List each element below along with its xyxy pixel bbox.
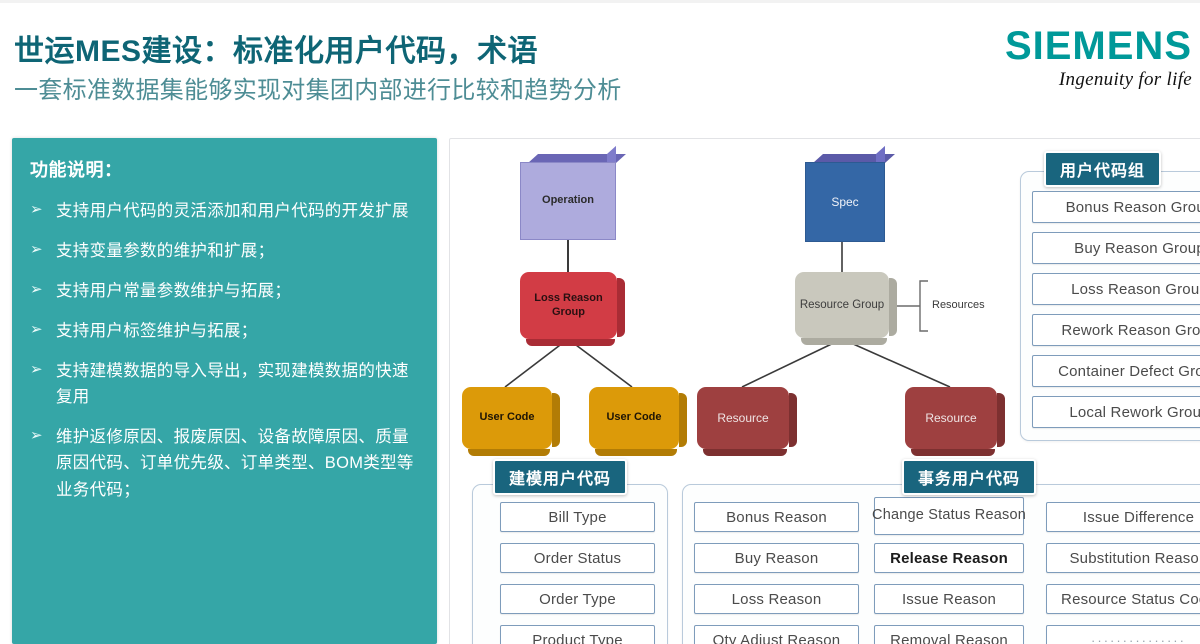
node-resource-2[interactable]: Resource xyxy=(905,387,997,449)
pill-product-type[interactable]: Product Type xyxy=(500,625,655,644)
chevron-right-icon: ➢ xyxy=(30,198,56,221)
feature-item: ➢ 支持用户常量参数维护与拓展； xyxy=(30,278,421,304)
diagram-panel: Operation Spec Loss Reason Group Resourc… xyxy=(449,138,1200,644)
pill-substitution-reason[interactable]: Substitution Reason xyxy=(1046,543,1200,573)
diagram-canvas: Operation Spec Loss Reason Group Resourc… xyxy=(450,139,1200,644)
card-modeling-user-code-title: 建模用户代码 xyxy=(493,459,627,495)
node-operation-label: Operation xyxy=(520,162,616,240)
chevron-right-icon: ➢ xyxy=(30,424,56,447)
node-depth-right xyxy=(789,393,797,447)
pill-release-reason[interactable]: Release Reason xyxy=(874,543,1024,573)
pill-change-status-reason[interactable]: Change Status Reason xyxy=(874,497,1024,535)
node-resource-1[interactable]: Resource xyxy=(697,387,789,449)
node-depth-bottom xyxy=(911,449,995,456)
header-top-rule xyxy=(0,0,1200,3)
pill-loss-reason[interactable]: Loss Reason xyxy=(694,584,859,614)
feature-item: ➢ 支持用户标签维护与拓展； xyxy=(30,318,421,344)
pill-loss-reason-group[interactable]: Loss Reason Group xyxy=(1032,273,1200,305)
page-subtitle: 一套标准数据集能够实现对集团内部进行比较和趋势分析 xyxy=(14,70,622,105)
pill-container-defect-group[interactable]: Container Defect Group xyxy=(1032,355,1200,387)
feature-item: ➢ 维护返修原因、报废原因、设备故障原因、质量原因代码、订单优先级、订单类型、B… xyxy=(30,424,421,502)
node-loss-reason-group-label: Loss Reason Group xyxy=(520,292,617,319)
node-depth-bottom xyxy=(801,338,887,345)
pill-bill-type[interactable]: Bill Type xyxy=(500,502,655,532)
pill-more-ellipsis[interactable]: ··············· xyxy=(1046,625,1200,644)
node-spec[interactable]: Spec xyxy=(805,154,885,242)
pill-issue-reason[interactable]: Issue Reason xyxy=(874,584,1024,614)
siemens-tagline: Ingenuity for life xyxy=(1005,69,1192,91)
node-user-code-2[interactable]: User Code xyxy=(589,387,679,449)
features-panel: 功能说明： ➢ 支持用户代码的灵活添加和用户代码的开发扩展 ➢ 支持变量参数的维… xyxy=(12,138,437,644)
features-heading: 功能说明： xyxy=(30,156,421,182)
node-depth-right xyxy=(679,393,687,447)
node-loss-reason-group[interactable]: Loss Reason Group xyxy=(520,272,617,339)
node-depth-bottom xyxy=(468,449,550,456)
pill-bonus-reason[interactable]: Bonus Reason xyxy=(694,502,859,532)
node-depth-bottom xyxy=(595,449,677,456)
node-spec-label: Spec xyxy=(805,162,885,242)
feature-item-label: 支持用户代码的灵活添加和用户代码的开发扩展 xyxy=(56,198,409,224)
node-depth-bottom xyxy=(703,449,787,456)
chevron-right-icon: ➢ xyxy=(30,358,56,381)
card-user-code-group-title: 用户代码组 xyxy=(1044,151,1161,187)
node-depth-right xyxy=(552,393,560,447)
chevron-right-icon: ➢ xyxy=(30,238,56,261)
node-user-code-1[interactable]: User Code xyxy=(462,387,552,449)
node-resource-group-label: Resource Group xyxy=(800,298,884,312)
pill-qty-adjust-reason[interactable]: Qty Adjust Reason xyxy=(694,625,859,644)
chevron-right-icon: ➢ xyxy=(30,278,56,301)
resources-bracket-label: Resources xyxy=(932,299,985,311)
pill-buy-reason[interactable]: Buy Reason xyxy=(694,543,859,573)
slide-root: 世运MES建设：标准化用户代码，术语 一套标准数据集能够实现对集团内部进行比较和… xyxy=(0,0,1200,644)
node-depth-right xyxy=(889,278,897,336)
chevron-right-icon: ➢ xyxy=(30,318,56,341)
node-user-code-1-label: User Code xyxy=(479,411,534,424)
feature-item-label: 维护返修原因、报废原因、设备故障原因、质量原因代码、订单优先级、订单类型、BOM… xyxy=(56,424,421,502)
pill-local-rework-group[interactable]: Local Rework Group xyxy=(1032,396,1200,428)
pill-buy-reason-group[interactable]: Buy Reason Group xyxy=(1032,232,1200,264)
siemens-wordmark: SIEMENS xyxy=(1005,26,1192,66)
node-user-code-2-label: User Code xyxy=(606,411,661,424)
node-resource-group[interactable]: Resource Group xyxy=(795,272,889,338)
node-resource-2-label: Resource xyxy=(925,411,976,426)
page-title: 世运MES建设：标准化用户代码，术语 xyxy=(14,26,538,70)
siemens-logo: SIEMENS Ingenuity for life xyxy=(1005,26,1192,91)
feature-item-label: 支持用户标签维护与拓展； xyxy=(56,318,258,344)
pill-bonus-reason-group[interactable]: Bonus Reason Group xyxy=(1032,191,1200,223)
feature-item: ➢ 支持建模数据的导入导出，实现建模数据的快速复用 xyxy=(30,358,421,410)
pill-rework-reason-group[interactable]: Rework Reason Group xyxy=(1032,314,1200,346)
pill-resource-status-code[interactable]: Resource Status Code xyxy=(1046,584,1200,614)
pill-order-status[interactable]: Order Status xyxy=(500,543,655,573)
pill-order-type[interactable]: Order Type xyxy=(500,584,655,614)
feature-item-label: 支持变量参数的维护和扩展； xyxy=(56,238,274,264)
node-operation[interactable]: Operation xyxy=(520,154,616,240)
feature-item-label: 支持建模数据的导入导出，实现建模数据的快速复用 xyxy=(56,358,421,410)
node-depth-right xyxy=(997,393,1005,447)
pill-issue-difference[interactable]: Issue Difference xyxy=(1046,502,1200,532)
card-transaction-user-code-title: 事务用户代码 xyxy=(902,459,1036,495)
node-depth-right xyxy=(617,278,625,337)
node-depth-bottom xyxy=(526,339,615,346)
pill-removal-reason[interactable]: Removal Reason xyxy=(874,625,1024,644)
feature-item: ➢ 支持变量参数的维护和扩展； xyxy=(30,238,421,264)
node-resource-1-label: Resource xyxy=(717,411,768,426)
feature-item-label: 支持用户常量参数维护与拓展； xyxy=(56,278,291,304)
feature-item: ➢ 支持用户代码的灵活添加和用户代码的开发扩展 xyxy=(30,198,421,224)
